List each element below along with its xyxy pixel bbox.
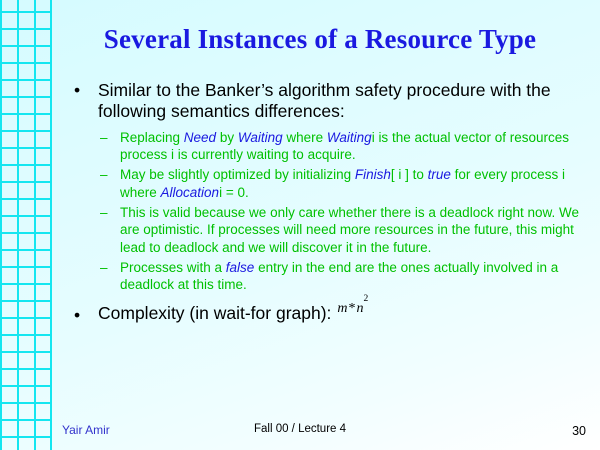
seg-plain: i = 0. [219,185,249,200]
sub-bullet-item-4: – Processes with a false entry in the en… [68,259,588,293]
sub-bullet-text-1: Replacing Need by Waiting where Waitingi… [120,130,569,162]
footer-page-number: 30 [572,424,586,438]
footer-course: Fall 00 / Lecture 4 [0,423,600,435]
bullet-glyph: • [74,80,80,101]
math-operator: * [349,301,356,316]
seg-plain: Processes with a [120,260,226,275]
complexity-bullet-item: • Complexity (in wait-for graph):m*n2 [68,303,588,324]
main-bullet-text: Similar to the Banker’s algorithm safety… [98,80,551,121]
seg-plain: where [283,130,327,145]
sub-bullet-text-3: This is valid because we only care wheth… [120,205,579,254]
seg-plain: by [216,130,238,145]
sub-bullet-item-3: – This is valid because we only care whe… [68,204,588,255]
complexity-label: Complexity (in wait-for graph): [98,303,331,323]
dash-glyph: – [100,129,108,146]
slide-title: Several Instances of a Resource Type [52,24,588,55]
math-expression: m*n2 [337,301,368,316]
seg-term: true [428,167,451,182]
seg-term: Allocation [161,185,220,200]
sub-bullet-text-4: Processes with a false entry in the end … [120,260,558,292]
slide-body: • Similar to the Banker’s algorithm safe… [68,80,588,324]
seg-plain: May be slightly optimized by initializin… [120,167,355,182]
seg-term: Finish [355,167,391,182]
sub-bullet-item-2: – May be slightly optimized by initializ… [68,166,588,200]
math-exponent: 2 [364,294,369,304]
seg-term: false [226,260,255,275]
sub-bullet-item-1: – Replacing Need by Waiting where Waitin… [68,129,588,163]
dash-glyph: – [100,259,108,276]
dash-glyph: – [100,166,108,183]
main-bullet-item: • Similar to the Banker’s algorithm safe… [68,80,588,123]
dash-glyph: – [100,204,108,221]
seg-term: Waiting [238,130,283,145]
math-base-m: m [337,301,347,316]
bullet-glyph: • [74,305,80,326]
sub-bullet-text-2: May be slightly optimized by initializin… [120,167,565,199]
seg-plain: Replacing [120,130,184,145]
decorative-grid-pattern [0,0,52,450]
seg-term: Need [184,130,216,145]
decorative-grid-edge [50,0,52,450]
presentation-slide: Several Instances of a Resource Type • S… [0,0,600,450]
math-base-n: n [357,301,364,316]
slide-footer: Yair Amir Fall 00 / Lecture 4 30 [0,423,600,443]
seg-term: Waiting [327,130,372,145]
seg-plain: [ i ] to [391,167,428,182]
sub-bullet-list: – Replacing Need by Waiting where Waitin… [68,129,588,294]
